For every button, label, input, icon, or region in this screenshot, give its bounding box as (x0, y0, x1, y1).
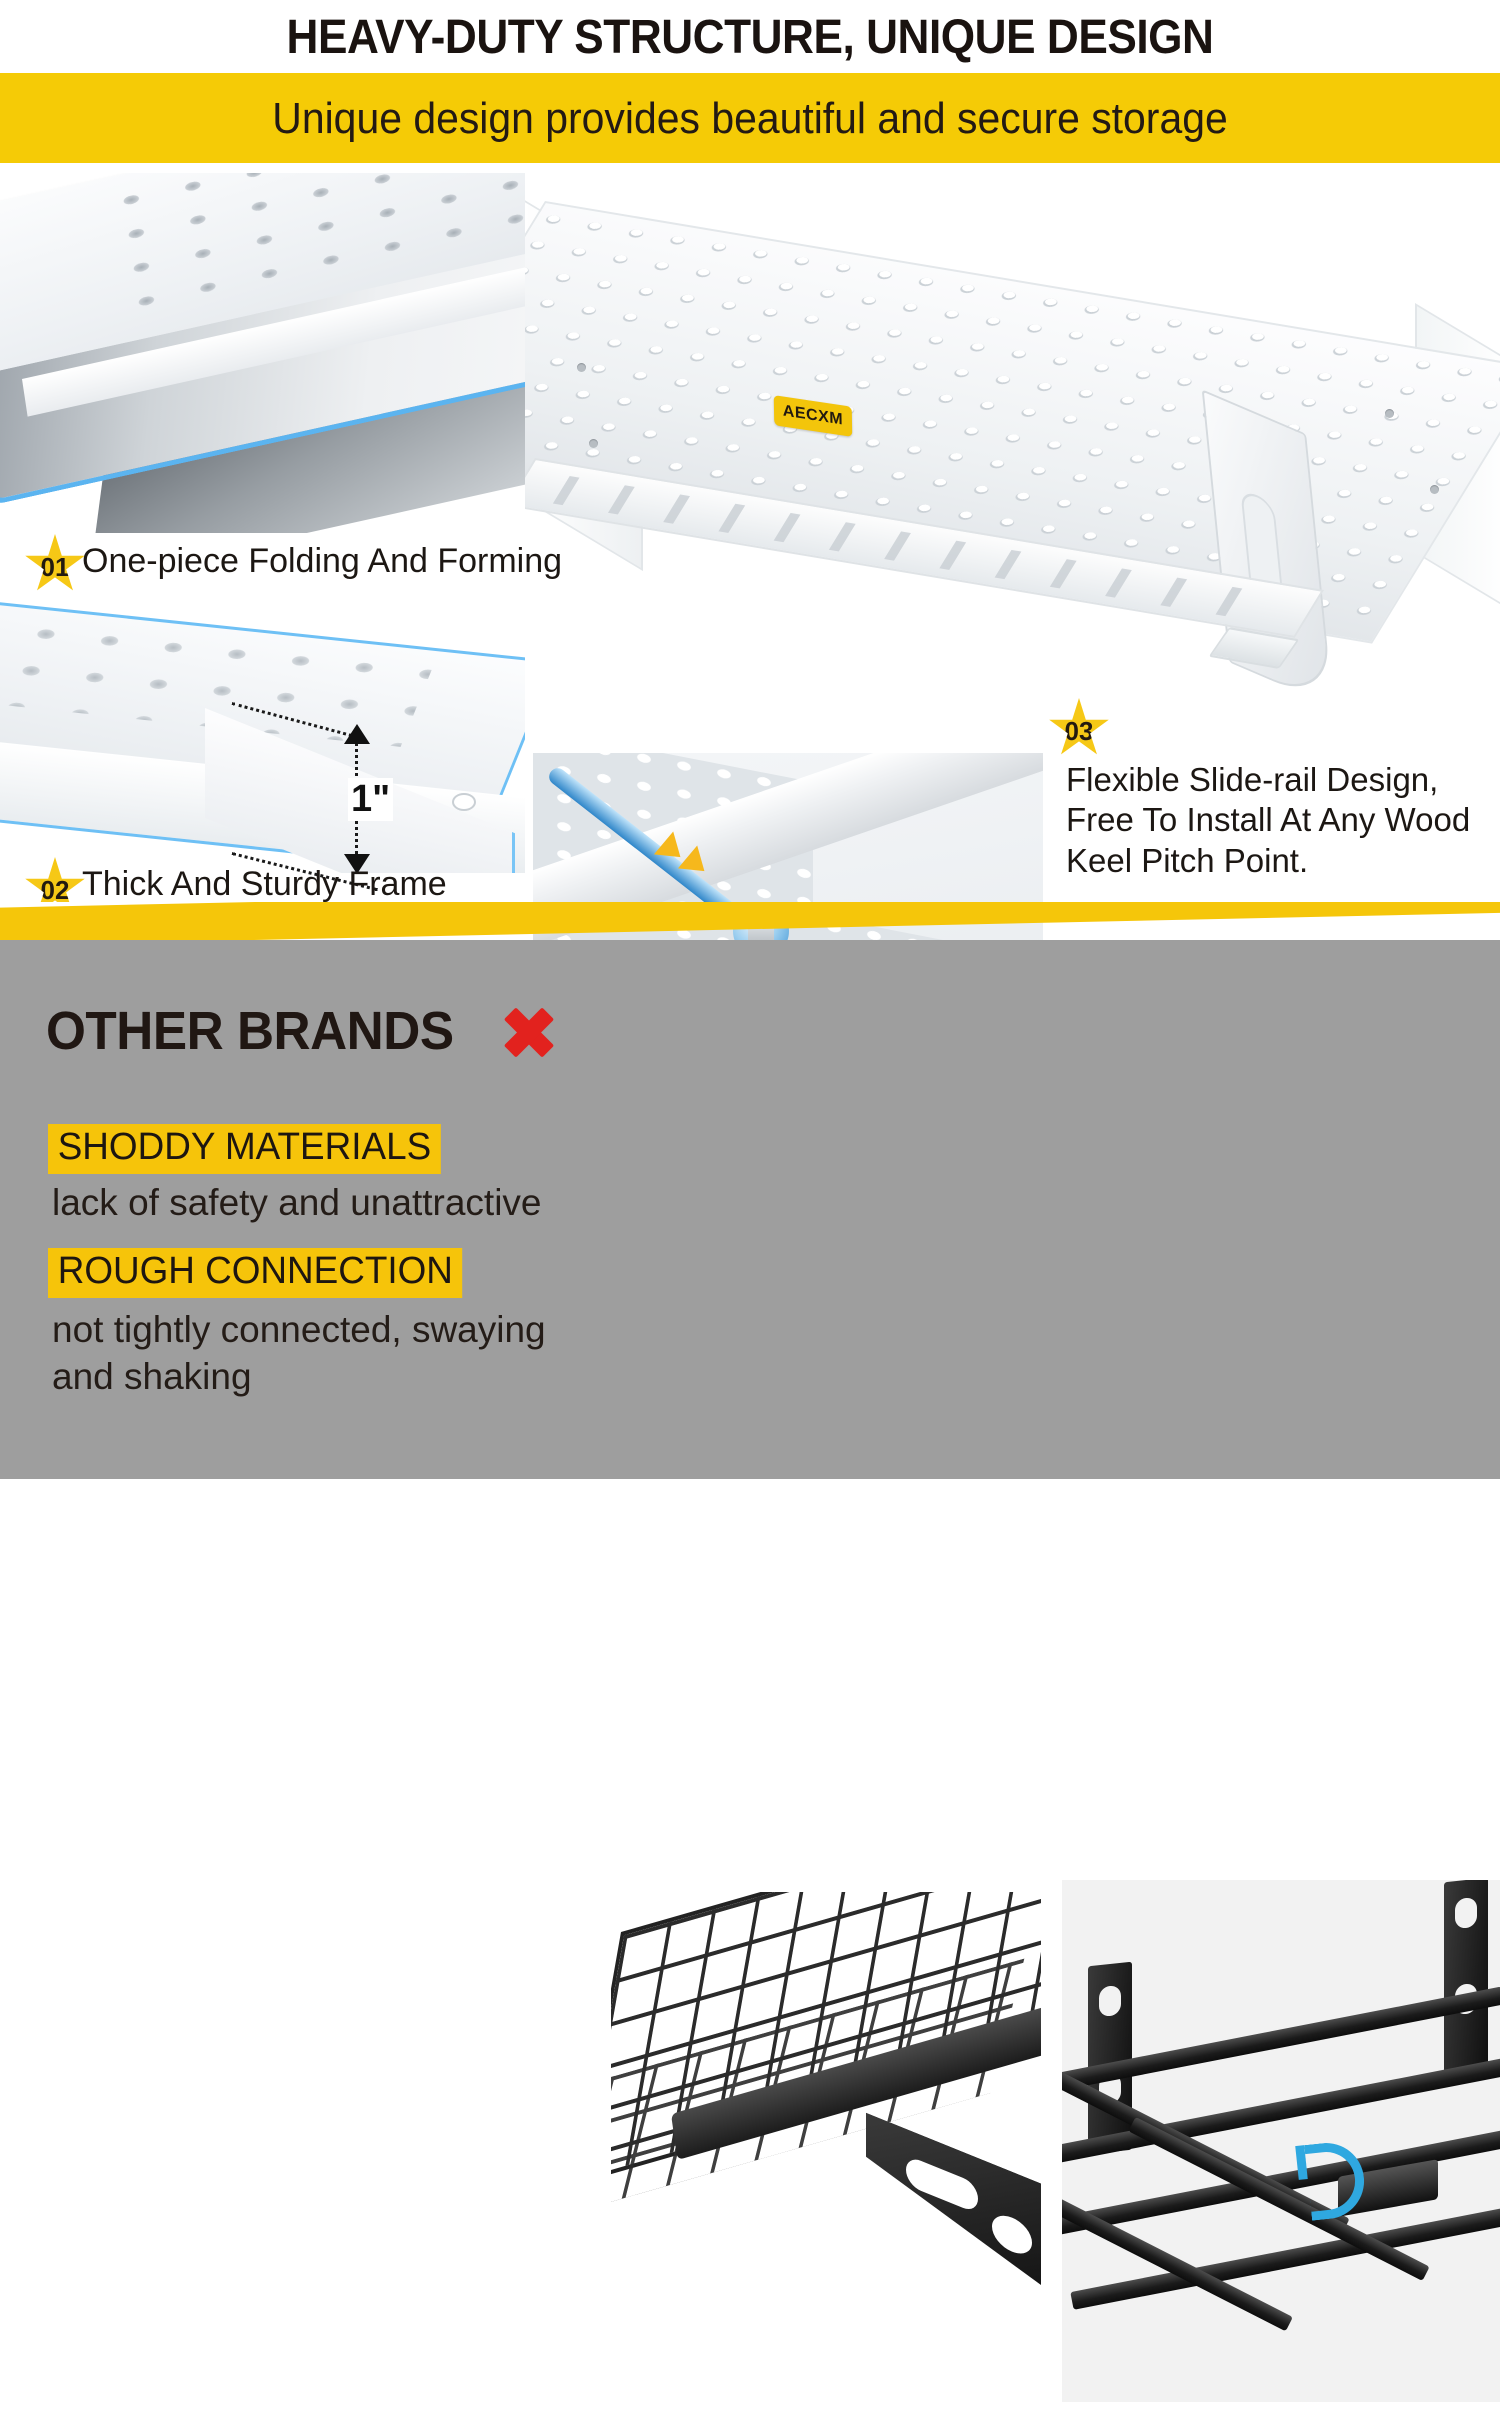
arrow-up-icon (344, 724, 370, 744)
feature-caption-03: Flexible Slide-rail Design, Free To Inst… (1066, 760, 1486, 881)
page-title: HEAVY-DUTY STRUCTURE, UNIQUE DESIGN (60, 2, 1440, 74)
competitor-mesh-rack-photo (611, 1892, 1041, 2409)
other-brands-label: OTHER BRANDS (46, 1000, 454, 1062)
folded-edge-photo (0, 173, 525, 533)
mounting-screw (1385, 409, 1394, 418)
header-banner: HEAVY-DUTY STRUCTURE, UNIQUE DESIGN Uniq… (0, 0, 1500, 163)
corner-bolt-hole (452, 793, 476, 811)
feature-caption-01: One-piece Folding And Forming (82, 542, 562, 581)
dimension-label: 1" (348, 778, 393, 821)
issue-headline-2: ROUGH CONNECTION (48, 1248, 463, 1298)
wall-bracket-right (1444, 1880, 1488, 2080)
competitor-comparison-section: OTHER BRANDS SHODDY MATERIALS lack of sa… (0, 940, 1500, 1479)
subtitle-bar: Unique design provides beautiful and sec… (0, 73, 1500, 163)
mounting-screw (589, 439, 598, 448)
mounting-screw (577, 363, 586, 372)
issue-headline-1: SHODDY MATERIALS (48, 1124, 441, 1174)
bracket-mount-hole (1455, 1897, 1477, 1929)
competitor-bar-rack-photo (1062, 1880, 1500, 2402)
mesh-gusset-plate (866, 2113, 1041, 2293)
full-shelf-photo: AECXM (525, 163, 1500, 728)
wall-bracket-left (1088, 1962, 1132, 2155)
feature-caption-02: Thick And Sturdy Frame (82, 865, 447, 904)
corner-thickness-photo (0, 588, 525, 873)
page-subtitle: Unique design provides beautiful and sec… (53, 73, 1448, 163)
issue-detail-2: not tightly connected, swaying and shaki… (52, 1306, 612, 1401)
x-mark-icon (497, 1000, 559, 1062)
other-brands-heading: OTHER BRANDS (46, 1000, 559, 1062)
issue-detail-1: lack of safety and unattractive (52, 1182, 542, 1224)
mounting-screw (1430, 485, 1439, 494)
bracket-mount-hole (1099, 1985, 1121, 2017)
